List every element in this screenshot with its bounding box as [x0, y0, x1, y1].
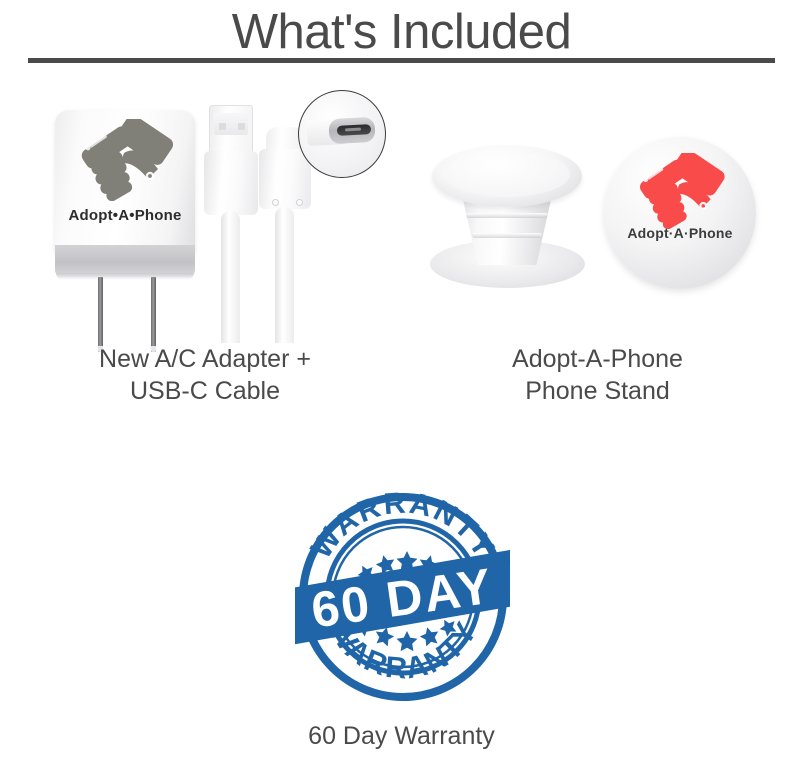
- usb-a-hole-left: [219, 123, 226, 130]
- usb-a-hole-right: [238, 123, 245, 130]
- usb-c-closeup-inset-icon: [298, 90, 386, 178]
- popsocket-stand-icon: Adopt·A·Phone: [400, 85, 795, 340]
- popsocket-rib-3: [472, 233, 542, 238]
- item-phone-stand: Adopt·A·Phone Adopt-A-Phone Phone Stand: [400, 85, 795, 415]
- popsocket-brand-label: Adopt·A·Phone: [604, 225, 756, 241]
- usb-a-wire: [221, 211, 240, 343]
- caption-ac-adapter: New A/C Adapter + USB-C Cable: [10, 343, 400, 407]
- popsocket-rib-2: [466, 213, 548, 218]
- caption-warranty: 60 Day Warranty: [0, 720, 803, 752]
- item-ac-adapter: Adopt•A•Phone: [10, 85, 400, 415]
- popsocket-top-highlight: [444, 151, 570, 197]
- warranty-stamp-icon: WARRANTY WARRANTY: [295, 485, 510, 710]
- ac-adapter-icon: Adopt•A•Phone: [10, 85, 400, 340]
- usb-c-screw-right: [296, 199, 303, 206]
- title-divider: [28, 58, 775, 63]
- usb-c-collar: [259, 149, 311, 209]
- page-title: What's Included: [0, 0, 803, 60]
- usb-a-collar: [204, 151, 258, 215]
- usb-c-wire: [275, 207, 294, 343]
- page-header: What's Included: [0, 0, 803, 60]
- handshake-icon: [632, 153, 730, 229]
- whats-included-page: What's Included: [0, 0, 803, 777]
- usb-c-screw-left: [272, 199, 279, 206]
- caption-phone-stand: Adopt-A-Phone Phone Stand: [400, 343, 795, 407]
